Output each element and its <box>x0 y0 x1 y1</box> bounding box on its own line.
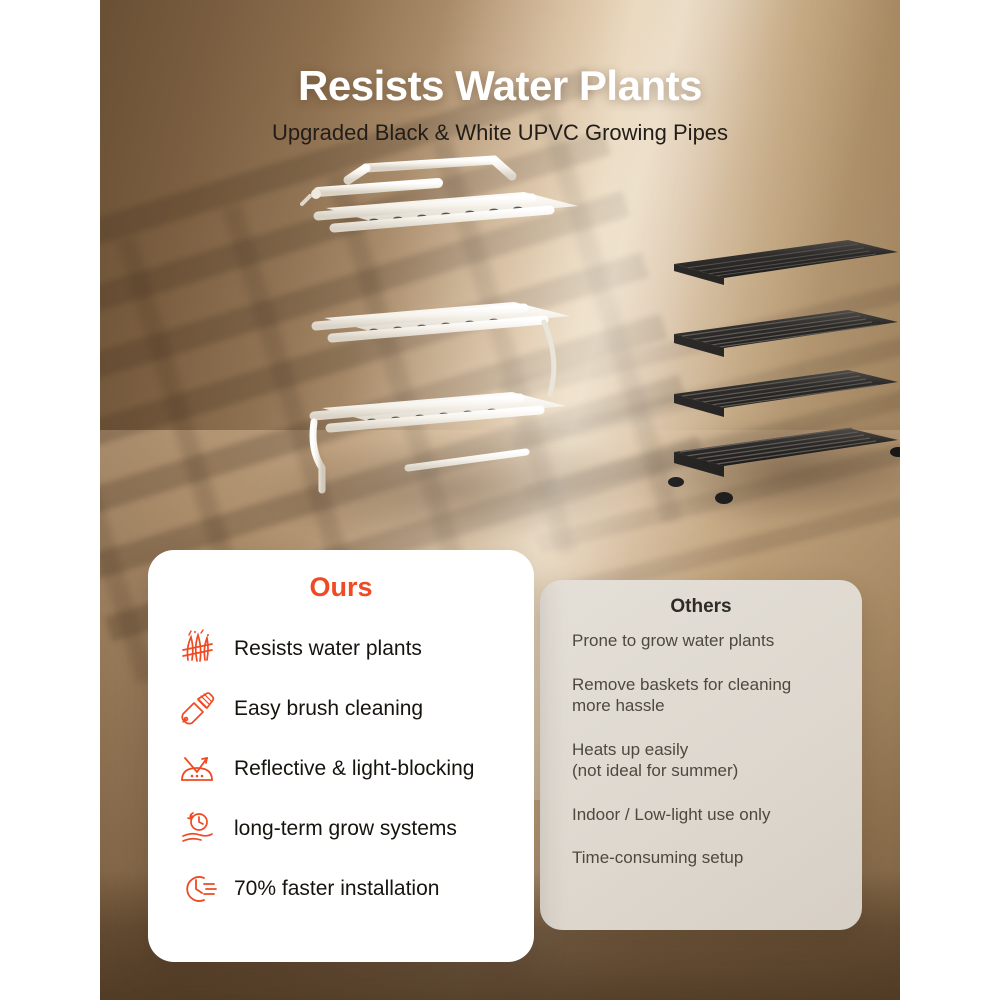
others-feature-list: Prone to grow water plants Remove basket… <box>540 630 862 869</box>
algae-crossed-out-icon <box>174 626 220 672</box>
list-item: Easy brush cleaning <box>174 679 534 739</box>
list-item: Time-consuming setup <box>572 847 844 869</box>
list-item: Reflective & light-blocking <box>174 739 534 799</box>
light-reflect-dome-icon <box>174 746 220 792</box>
others-card-title: Others <box>540 596 862 618</box>
ours-item-label: Resists water plants <box>234 637 422 661</box>
list-item: Indoor / Low-light use only <box>572 804 844 826</box>
ours-item-label: Easy brush cleaning <box>234 697 423 721</box>
ours-card-title: Ours <box>148 572 534 603</box>
hand-clock-durability-icon <box>174 806 220 852</box>
page-subtitle: Upgraded Black & White UPVC Growing Pipe… <box>0 120 1000 146</box>
list-item: Heats up easily (not ideal for summer) <box>572 739 844 782</box>
list-item: 70% faster installation <box>174 859 534 919</box>
list-item: Prone to grow water plants <box>572 630 844 652</box>
white-upvc-hydroponic-rack <box>288 150 588 530</box>
fast-clock-icon <box>174 866 220 912</box>
page-title: Resists Water Plants <box>0 62 1000 110</box>
list-item: Remove baskets for cleaning more hassle <box>572 674 844 717</box>
ours-item-label: 70% faster installation <box>234 877 439 901</box>
cleaning-brush-icon <box>174 686 220 732</box>
others-comparison-card: Others Prone to grow water plants Remove… <box>540 580 862 930</box>
ours-comparison-card: Ours Resists water plants <box>148 550 534 962</box>
list-item: Resists water plants <box>174 619 534 679</box>
list-item: long-term grow systems <box>174 799 534 859</box>
ours-item-label: Reflective & light-blocking <box>234 757 474 781</box>
product-marketing-image: Resists Water Plants Upgraded Black & Wh… <box>0 0 1000 1000</box>
black-upvc-hydroponic-rack <box>652 228 900 508</box>
ours-item-label: long-term grow systems <box>234 817 457 841</box>
ours-feature-list: Resists water plants Easy brush cleaning <box>148 619 534 919</box>
